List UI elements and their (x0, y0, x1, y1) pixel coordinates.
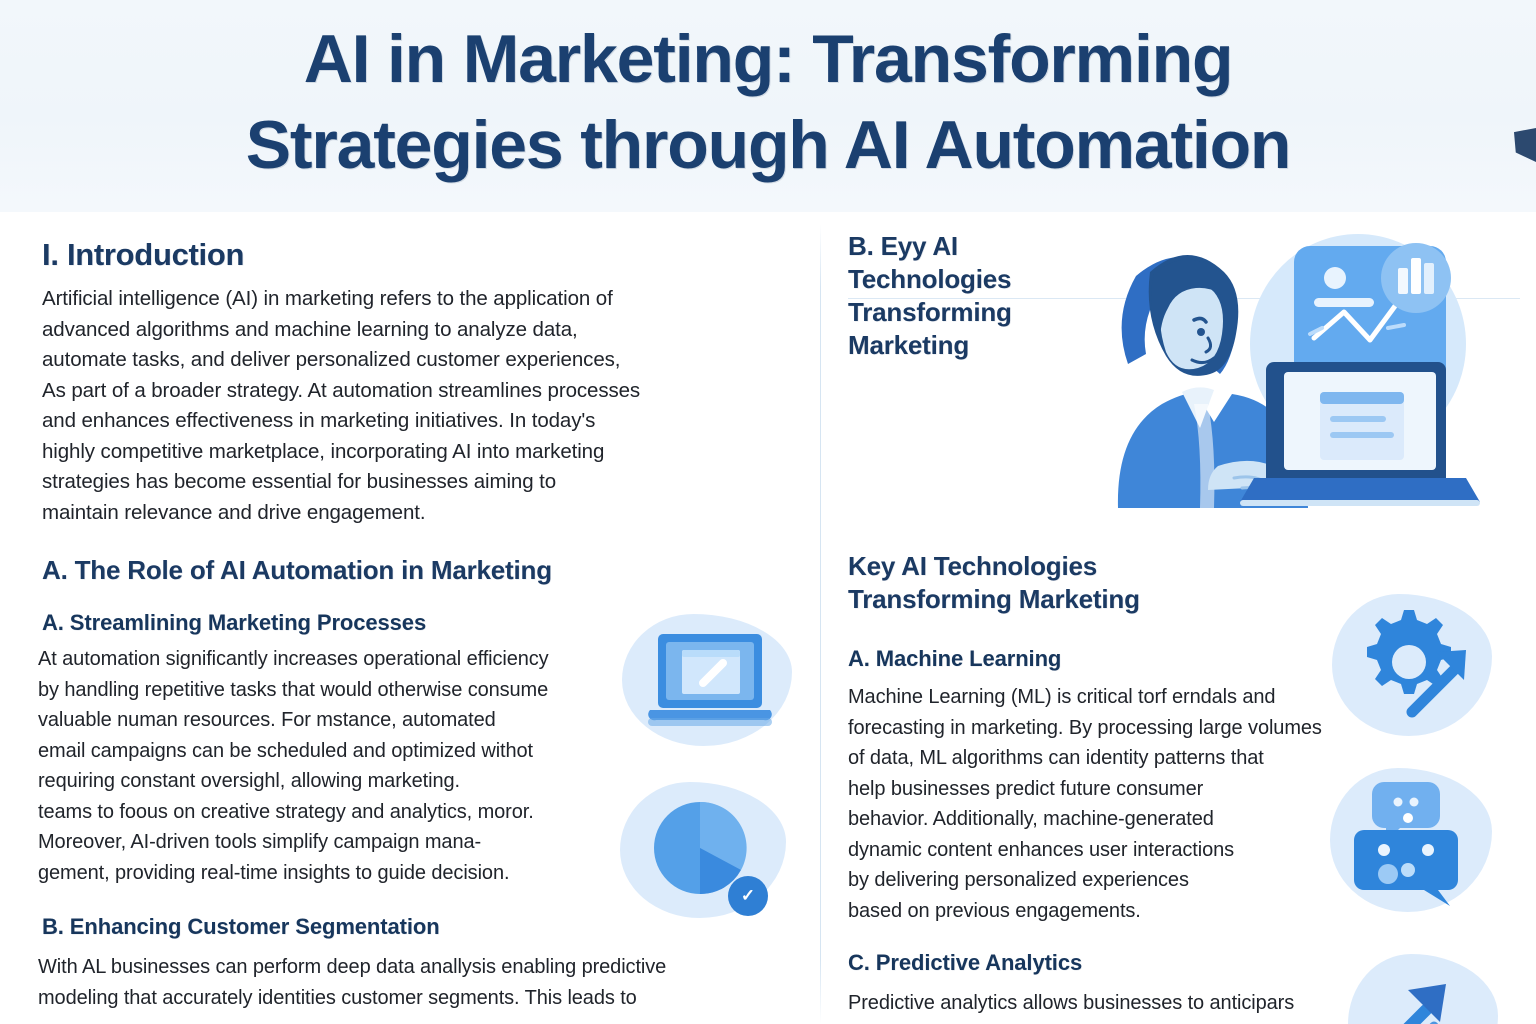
intro-line: and enhances effectiveness in marketing … (42, 406, 742, 437)
pa-line: Predictive analytics allows businesses t… (848, 988, 1428, 1019)
segmentation-line: modeling that accurately identities cust… (38, 983, 798, 1014)
streamlining-line: by handling repetitive tasks that would … (38, 675, 638, 706)
intro-line: Artificial intelligence (AI) in marketin… (42, 284, 742, 315)
streamlining-line: requiring constant oversighl, allowing m… (38, 766, 638, 797)
streamlining-paragraph: At automation significantly increases op… (38, 644, 638, 888)
intro-line: automate tasks, and deliver personalized… (42, 345, 742, 376)
chat-bubble-icon (1350, 778, 1476, 906)
intro-heading: I. Introduction (42, 236, 244, 274)
streamlining-line: Moreover, AI-driven tools simplify campa… (38, 827, 638, 858)
machine-learning-heading: A. Machine Learning (848, 644, 1061, 673)
segmentation-heading: B. Enhancing Customer Segmentation (42, 912, 440, 941)
role-of-ai-heading: A. The Role of AI Automation in Marketin… (42, 554, 552, 587)
segmentation-paragraph: With AL businesses can perform deep data… (38, 952, 798, 1013)
left-column: I. Introduction Artificial intelligence … (0, 212, 820, 1024)
key-technologies-heading: Key AI Technologies Transforming Marketi… (848, 550, 1268, 616)
page-title: AI in Marketing: Transforming Strategies… (0, 16, 1536, 188)
intro-line: highly competitive marketplace, incorpor… (42, 437, 742, 468)
infographic-page: AI in Marketing: Transforming Strategies… (0, 0, 1536, 1024)
ml-line: of data, ML algorithms can identity patt… (848, 743, 1428, 774)
right-column: B. Eyy AI Technologies Transforming Mark… (820, 212, 1536, 1024)
intro-line: advanced algorithms and machine learning… (42, 315, 742, 346)
streamlining-line: teams to foous on creative strategy and … (38, 797, 638, 828)
ml-line: based on previous engagements. (848, 896, 1428, 927)
intro-paragraph: Artificial intelligence (AI) in marketin… (42, 284, 742, 528)
key-heading-line: Key AI Technologies (848, 550, 1268, 583)
predictive-analytics-paragraph: Predictive analytics allows businesses t… (848, 988, 1428, 1019)
eyy-heading-line: Transforming (848, 296, 1088, 329)
key-heading-line: Transforming Marketing (848, 583, 1268, 616)
eyy-ai-heading: B. Eyy AI Technologies Transforming Mark… (848, 230, 1088, 362)
check-badge-icon: ✓ (728, 876, 768, 916)
segmentation-line: With AL businesses can perform deep data… (38, 952, 798, 983)
predictive-analytics-heading: C. Predictive Analytics (848, 948, 1082, 977)
ml-line: forecasting in marketing. By processing … (848, 713, 1428, 744)
page-title-line-2: Strategies through AI Automation (90, 102, 1446, 188)
eyy-heading-line: B. Eyy AI (848, 230, 1088, 263)
hero-illustration-woman-at-laptop (1058, 216, 1508, 508)
eyy-heading-line: Marketing (848, 329, 1088, 362)
eyy-heading-line: Technologies (848, 263, 1088, 296)
intro-line: strategies has become essential for busi… (42, 467, 742, 498)
intro-line: maintain relevance and drive engagement. (42, 498, 742, 529)
laptop-edit-icon (648, 630, 772, 732)
streamlining-line: valuable numan resources. For mstance, a… (38, 705, 638, 736)
streamlining-line: gement, providing real-time insights to … (38, 858, 638, 889)
gear-arrow-icon (1354, 608, 1478, 724)
page-title-line-1: AI in Marketing: Transforming (90, 16, 1446, 102)
streamlining-line: At automation significantly increases op… (38, 644, 638, 675)
trend-arrow-icon (1364, 968, 1488, 1024)
streamlining-heading: A. Streamlining Marketing Processes (42, 608, 426, 637)
streamlining-line: email campaigns can be scheduled and opt… (38, 736, 638, 767)
intro-line: As part of a broader strategy. At automa… (42, 376, 742, 407)
